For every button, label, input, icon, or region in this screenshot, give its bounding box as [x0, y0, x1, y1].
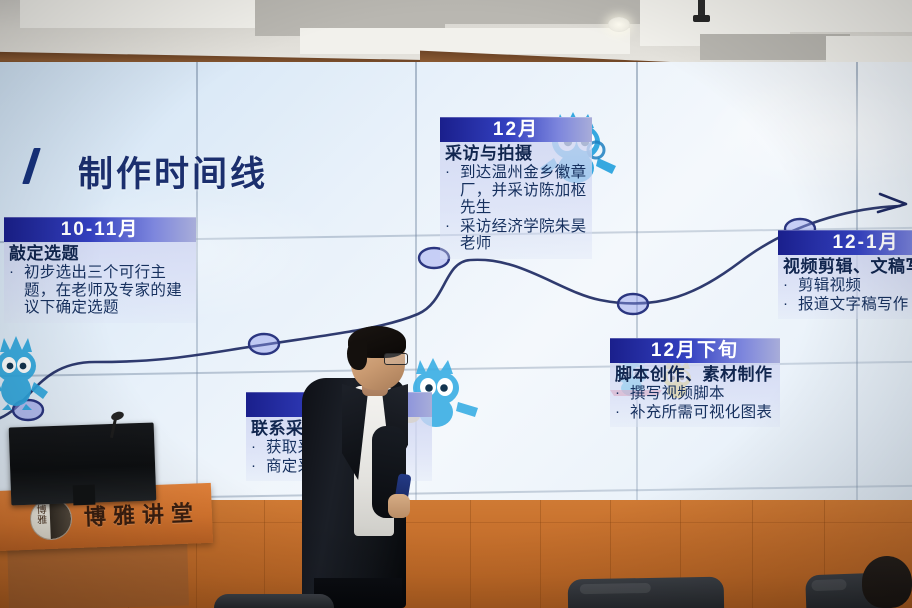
bullet-icon: ·: [445, 218, 460, 253]
projector-head: [693, 15, 710, 22]
list-item-text: 撰写视频脚本: [630, 385, 775, 403]
timeline-node: [249, 334, 279, 354]
timeline-body: 敲定选题 · 初步选出三个可行主题，在老师及专家的建议下确定选题: [4, 242, 196, 323]
bullet-icon: ·: [783, 277, 798, 295]
presenter: [296, 326, 426, 608]
ceiling-downlight: [608, 17, 630, 32]
bullet-icon: ·: [9, 264, 24, 317]
lectern-monitor: [9, 422, 157, 505]
timeline-card-dec-jan[interactable]: 12-1月 视频剪辑、文稿写作 · 剪辑视频 · 报道文字稿写作: [778, 230, 912, 319]
bullet-icon: ·: [783, 296, 798, 314]
timeline-node: [618, 294, 648, 314]
timeline-period: 12月: [440, 117, 592, 142]
timeline-body: 脚本创作、素材制作 · 撰写视频脚本 · 补充所需可视化图表: [610, 363, 780, 427]
list-item: · 补充所需可视化图表: [615, 404, 775, 422]
timeline-period: 10-11月: [4, 217, 196, 242]
timeline-card-oct-nov[interactable]: 10-11月 敲定选题 · 初步选出三个可行主题，在老师及专家的建议下确定选题: [4, 217, 196, 323]
list-item-text: 初步选出三个可行主题，在老师及专家的建议下确定选题: [24, 264, 191, 317]
list-item: · 到达温州金乡徽章厂，并采访陈加枢先生: [445, 164, 587, 217]
bullet-icon: ·: [445, 164, 460, 217]
timeline-subtitle: 敲定选题: [9, 244, 191, 263]
ceiling-panel: [300, 28, 630, 54]
audience-head: [862, 556, 912, 608]
list-item-text: 剪辑视频: [798, 277, 912, 295]
timeline-body: 视频剪辑、文稿写作 · 剪辑视频 · 报道文字稿写作: [778, 255, 912, 319]
list-item-text: 采访经济学院朱昊老师: [460, 218, 587, 253]
ceiling-panel: [20, 0, 260, 28]
timeline-subtitle: 采访与拍摄: [445, 144, 587, 163]
timeline-card-dec[interactable]: 12月 采访与拍摄 · 到达温州金乡徽章厂，并采访陈加枢先生 · 采访经济学院朱…: [440, 117, 592, 259]
audience-chair: [214, 594, 334, 608]
timeline-body: 采访与拍摄 · 到达温州金乡徽章厂，并采访陈加枢先生 · 采访经济学院朱昊老师: [440, 142, 592, 259]
list-item: · 撰写视频脚本: [615, 385, 775, 403]
timeline-subtitle: 视频剪辑、文稿写作: [783, 257, 912, 276]
bullet-icon: ·: [615, 385, 630, 403]
photo-of-lecture-hall: 制作时间线: [0, 0, 912, 608]
list-item: · 初步选出三个可行主题，在老师及专家的建议下确定选题: [9, 264, 191, 317]
list-item: · 剪辑视频: [783, 277, 912, 295]
list-item-text: 到达温州金乡徽章厂，并采访陈加枢先生: [460, 164, 587, 217]
timeline-period: 12月下旬: [610, 338, 780, 363]
ceiling-recess: [440, 0, 670, 24]
list-item: · 报道文字稿写作: [783, 296, 912, 314]
bullet-icon: ·: [251, 439, 266, 457]
audience-chair: [568, 577, 725, 608]
presenter-hair: [347, 340, 367, 370]
timeline-card-dec-late[interactable]: 12月下旬 脚本创作、素材制作 · 撰写视频脚本 · 补充所需可视化图表: [610, 338, 780, 427]
timeline-period: 12-1月: [778, 230, 912, 255]
timeline-subtitle: 脚本创作、素材制作: [615, 365, 775, 384]
list-item: · 采访经济学院朱昊老师: [445, 218, 587, 253]
mascot-fuwa-icon: [0, 332, 52, 410]
list-item-text: 报道文字稿写作: [798, 296, 912, 314]
glasses-icon: [384, 353, 408, 365]
venue-seal-text: 博雅: [34, 504, 44, 524]
bullet-icon: ·: [251, 458, 266, 476]
bullet-icon: ·: [615, 404, 630, 422]
page-title: 制作时间线: [78, 146, 268, 197]
ceiling-panel: [788, 0, 912, 32]
presenter-hand: [388, 494, 410, 518]
list-item-text: 补充所需可视化图表: [630, 404, 775, 422]
